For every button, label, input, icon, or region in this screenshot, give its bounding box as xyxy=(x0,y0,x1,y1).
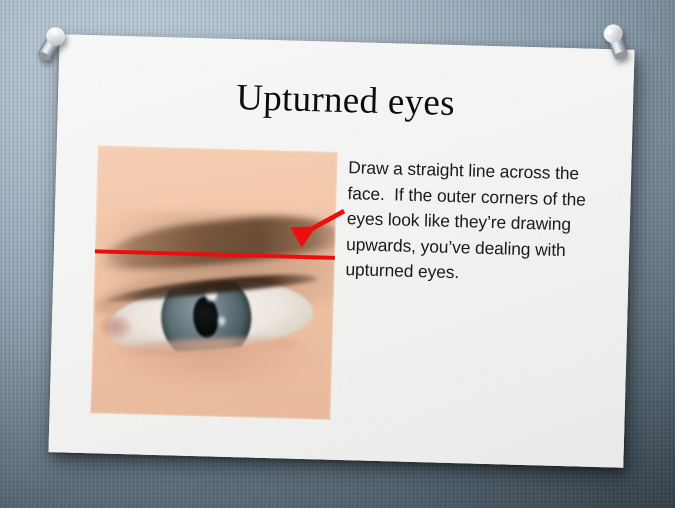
under-eye-shadow xyxy=(96,341,328,401)
slide-card: Upturned eyes xyxy=(48,34,634,467)
slide-stage: Upturned eyes xyxy=(0,0,675,508)
eye-photo-skin xyxy=(91,145,338,419)
page-title: Upturned eyes xyxy=(58,71,634,130)
pushpin-left-icon xyxy=(33,22,67,70)
body-text: Draw a straight line across the face. If… xyxy=(345,155,598,289)
pushpin-right-icon xyxy=(600,20,634,68)
eye-photo xyxy=(91,145,338,419)
outer-corner-arrow-icon xyxy=(292,209,345,244)
